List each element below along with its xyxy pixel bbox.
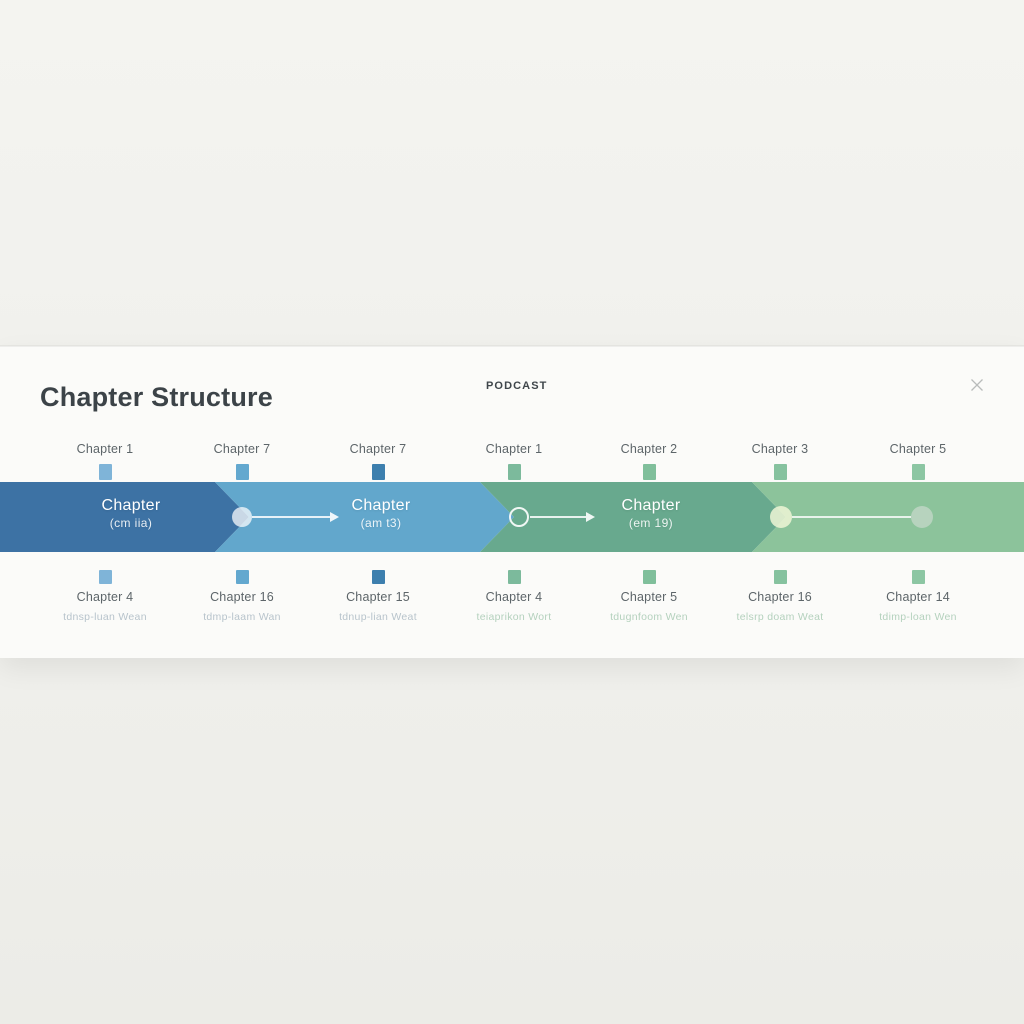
top-tick-1: Chapter 1 bbox=[30, 442, 180, 480]
bottom-tick-marker bbox=[912, 570, 925, 584]
bottom-tick-marker bbox=[372, 570, 385, 584]
top-tick-2: Chapter 7 bbox=[167, 442, 317, 480]
top-tick-label: Chapter 2 bbox=[574, 442, 724, 456]
connector-dot bbox=[770, 506, 792, 528]
top-tick-3: Chapter 7 bbox=[303, 442, 453, 480]
chevron-segment-3[interactable] bbox=[480, 482, 786, 552]
card-top-divider bbox=[0, 346, 1024, 347]
chevron-segment-1[interactable] bbox=[0, 482, 249, 552]
top-tick-6: Chapter 3 bbox=[705, 442, 855, 480]
top-tick-4: Chapter 1 bbox=[439, 442, 589, 480]
top-tick-marker bbox=[774, 464, 787, 480]
top-tick-marker bbox=[99, 464, 112, 480]
top-tick-marker bbox=[236, 464, 249, 480]
bottom-tick-subcaption: tdimp-loan Wen bbox=[833, 611, 1003, 623]
chevron-segments bbox=[0, 482, 1024, 552]
bottom-tick-7: Chapter 14tdimp-loan Wen bbox=[833, 570, 1003, 623]
bottom-tick-marker bbox=[508, 570, 521, 584]
connector-dot bbox=[232, 507, 252, 527]
top-tick-label: Chapter 5 bbox=[843, 442, 993, 456]
close-icon[interactable] bbox=[968, 376, 986, 394]
bottom-tick-marker bbox=[774, 570, 787, 584]
bottom-tick-marker bbox=[236, 570, 249, 584]
bottom-tick-marker bbox=[643, 570, 656, 584]
brand-label: PODCAST bbox=[486, 380, 547, 392]
bottom-tick-marker bbox=[99, 570, 112, 584]
top-tick-label: Chapter 1 bbox=[30, 442, 180, 456]
top-tick-7: Chapter 5 bbox=[843, 442, 993, 480]
chapter-chevron-band: Chapter(cm iia)Chapter(am t3)Chapter(em … bbox=[0, 482, 1024, 552]
top-tick-label: Chapter 3 bbox=[705, 442, 855, 456]
page-title: Chapter Structure bbox=[40, 382, 273, 413]
chapter-structure-card: Chapter Structure PODCAST Chapter 1Chapt… bbox=[0, 346, 1024, 658]
top-tick-label: Chapter 7 bbox=[167, 442, 317, 456]
top-tick-marker bbox=[643, 464, 656, 480]
connector-dot bbox=[911, 506, 933, 528]
top-tick-label: Chapter 7 bbox=[303, 442, 453, 456]
top-tick-5: Chapter 2 bbox=[574, 442, 724, 480]
top-tick-label-row: Chapter 1Chapter 7Chapter 7Chapter 1Chap… bbox=[0, 442, 1024, 486]
bottom-tick-label-row: Chapter 4tdnsp-luan WeanChapter 16tdmp-l… bbox=[0, 570, 1024, 630]
top-tick-marker bbox=[372, 464, 385, 480]
top-tick-marker bbox=[508, 464, 521, 480]
top-tick-label: Chapter 1 bbox=[439, 442, 589, 456]
top-tick-marker bbox=[912, 464, 925, 480]
bottom-tick-label: Chapter 14 bbox=[833, 590, 1003, 604]
